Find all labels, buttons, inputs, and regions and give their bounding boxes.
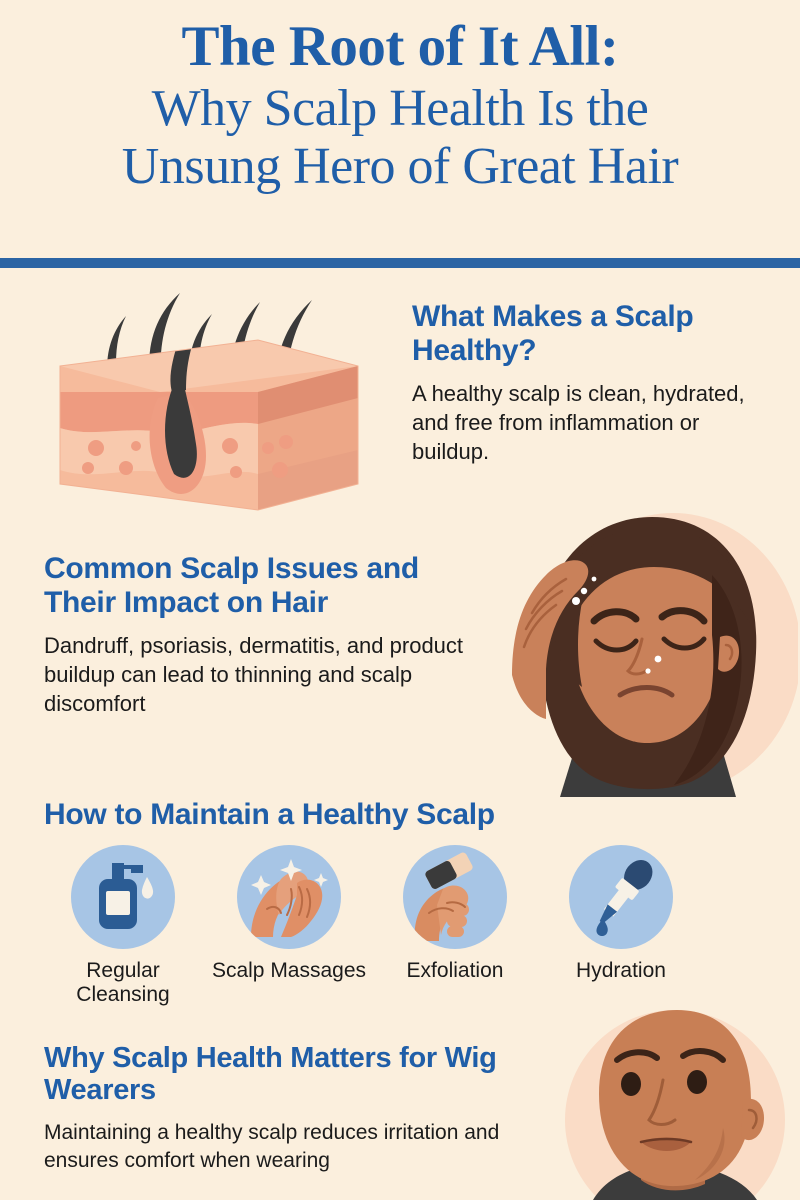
section-4-heading: Why Scalp Health Matters for Wig Wearers	[44, 1042, 544, 1107]
dropper-icon	[569, 845, 673, 949]
care-tip-scalp-massages[interactable]: Scalp Massages	[206, 845, 372, 983]
section-wig-wearers: Why Scalp Health Matters for Wig Wearers…	[44, 1042, 544, 1175]
pump-bottle-icon	[71, 845, 175, 949]
section-what-makes-scalp-healthy: What Makes a Scalp Healthy? A healthy sc…	[412, 300, 772, 466]
woman-scalp-discomfort-illustration	[498, 505, 798, 800]
section-2-body: Dandruff, psoriasis, dermatitis, and pro…	[44, 631, 464, 718]
section-how-to-maintain: How to Maintain a Healthy Scalp	[44, 798, 744, 844]
section-1-body: A healthy scalp is clean, hydrated, and …	[412, 379, 772, 466]
exfoliating-block-icon	[403, 845, 507, 949]
skin-cross-section-illustration	[40, 288, 380, 523]
bald-person-illustration	[545, 1008, 800, 1200]
section-1-heading: What Makes a Scalp Healthy?	[412, 300, 772, 367]
title-line-1: The Root of It All:	[0, 18, 800, 75]
care-tips-row: Regular Cleansing	[40, 845, 760, 1007]
section-2-heading: Common Scalp Issues and Their Impact on …	[44, 552, 464, 619]
title-line-3: Unsung Hero of Great Hair	[0, 141, 800, 193]
care-tip-regular-cleansing[interactable]: Regular Cleansing	[40, 845, 206, 1007]
care-tip-exfoliation[interactable]: Exfoliation	[372, 845, 538, 983]
title-line-2: Why Scalp Health Is the	[0, 83, 800, 135]
page-title: The Root of It All: Why Scalp Health Is …	[0, 18, 800, 199]
massaging-hands-icon	[237, 845, 341, 949]
section-3-heading: How to Maintain a Healthy Scalp	[44, 798, 744, 832]
section-4-body: Maintaining a healthy scalp reduces irri…	[44, 1119, 544, 1175]
care-tip-label: Exfoliation	[372, 959, 538, 983]
care-tip-label: Scalp Massages	[206, 959, 372, 983]
care-tip-label: Regular Cleansing	[40, 959, 206, 1007]
care-tip-hydration[interactable]: Hydration	[538, 845, 704, 983]
care-tip-label: Hydration	[538, 959, 704, 983]
header-divider	[0, 258, 800, 268]
section-common-scalp-issues: Common Scalp Issues and Their Impact on …	[44, 552, 464, 718]
infographic-page: The Root of It All: Why Scalp Health Is …	[0, 0, 800, 1200]
